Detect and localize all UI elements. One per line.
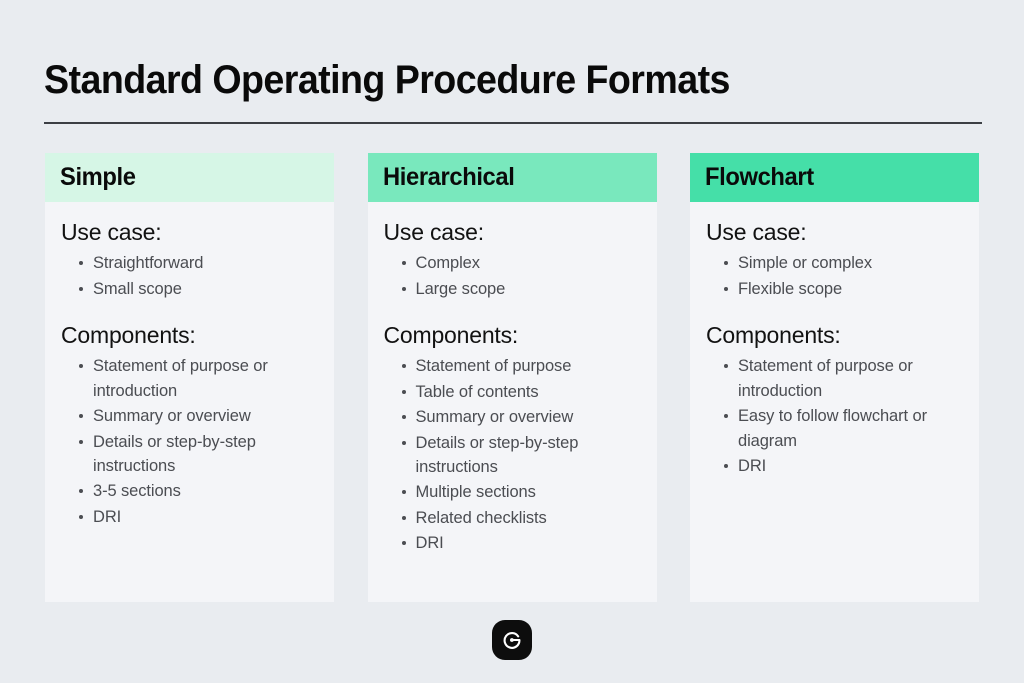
- use-case-list: Simple or complex Flexible scope: [704, 251, 967, 301]
- format-card-hierarchical: Hierarchical Use case: Complex Large sco…: [368, 153, 657, 602]
- use-case-heading: Use case:: [61, 220, 322, 245]
- list-item: Details or step-by-step instructions: [400, 431, 645, 480]
- title-divider: [44, 122, 982, 124]
- list-item: Statement of purpose: [400, 354, 645, 378]
- title-block: Standard Operating Procedure Formats: [44, 60, 982, 124]
- components-list: Statement of purpose Table of contents S…: [382, 354, 645, 555]
- card-header-flowchart: Flowchart: [690, 153, 979, 202]
- card-title-simple: Simple: [60, 163, 136, 192]
- components-list: Statement of purpose or introduction Sum…: [59, 354, 322, 529]
- list-item: Statement of purpose or introduction: [77, 354, 322, 403]
- use-case-section: Use case: Straightforward Small scope: [59, 220, 322, 301]
- use-case-section: Use case: Simple or complex Flexible sco…: [704, 220, 967, 301]
- use-case-list: Complex Large scope: [382, 251, 645, 301]
- components-section: Components: Statement of purpose Table o…: [382, 323, 645, 556]
- g-circle-logo-icon: [500, 628, 524, 652]
- slide-canvas: Standard Operating Procedure Formats Sim…: [0, 0, 1024, 683]
- card-title-flowchart: Flowchart: [705, 163, 814, 192]
- page-title: Standard Operating Procedure Formats: [44, 60, 926, 100]
- list-item: Statement of purpose or introduction: [722, 354, 967, 403]
- list-item: DRI: [400, 531, 645, 555]
- components-section: Components: Statement of purpose or intr…: [59, 323, 322, 529]
- card-body-flowchart: Use case: Simple or complex Flexible sco…: [690, 202, 979, 602]
- components-heading: Components:: [706, 323, 967, 348]
- list-item: DRI: [77, 505, 322, 529]
- card-header-hierarchical: Hierarchical: [368, 153, 657, 202]
- use-case-section: Use case: Complex Large scope: [382, 220, 645, 301]
- components-heading: Components:: [384, 323, 645, 348]
- use-case-heading: Use case:: [384, 220, 645, 245]
- card-header-simple: Simple: [45, 153, 334, 202]
- format-card-flowchart: Flowchart Use case: Simple or complex Fl…: [690, 153, 979, 602]
- list-item: 3-5 sections: [77, 479, 322, 503]
- format-card-list: Simple Use case: Straightforward Small s…: [45, 153, 979, 602]
- format-card-simple: Simple Use case: Straightforward Small s…: [45, 153, 334, 602]
- list-item: DRI: [722, 454, 967, 478]
- list-item: Easy to follow flowchart or diagram: [722, 404, 967, 453]
- card-title-hierarchical: Hierarchical: [383, 163, 514, 192]
- list-item: Complex: [400, 251, 645, 275]
- components-heading: Components:: [61, 323, 322, 348]
- card-body-simple: Use case: Straightforward Small scope Co…: [45, 202, 334, 602]
- list-item: Large scope: [400, 277, 645, 301]
- list-item: Related checklists: [400, 506, 645, 530]
- card-body-hierarchical: Use case: Complex Large scope Components…: [368, 202, 657, 602]
- list-item: Simple or complex: [722, 251, 967, 275]
- list-item: Summary or overview: [400, 405, 645, 429]
- brand-logo: [492, 620, 532, 660]
- components-section: Components: Statement of purpose or intr…: [704, 323, 967, 478]
- list-item: Flexible scope: [722, 277, 967, 301]
- components-list: Statement of purpose or introduction Eas…: [704, 354, 967, 478]
- use-case-heading: Use case:: [706, 220, 967, 245]
- list-item: Summary or overview: [77, 404, 322, 428]
- list-item: Details or step-by-step instructions: [77, 430, 322, 479]
- list-item: Straightforward: [77, 251, 322, 275]
- list-item: Table of contents: [400, 380, 645, 404]
- footer-logo-area: [0, 620, 1024, 660]
- use-case-list: Straightforward Small scope: [59, 251, 322, 301]
- list-item: Multiple sections: [400, 480, 645, 504]
- list-item: Small scope: [77, 277, 322, 301]
